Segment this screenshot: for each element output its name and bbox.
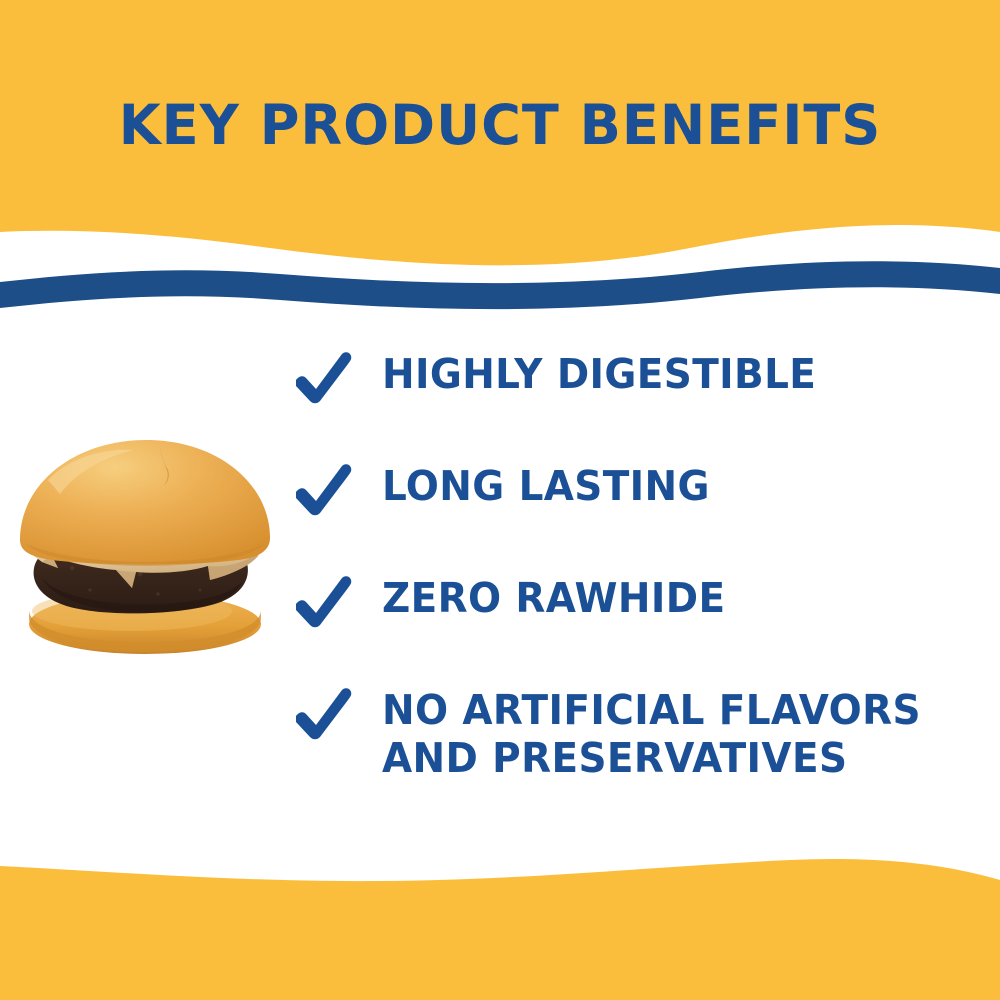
list-item-label: HIGHLY DIGESTIBLE (382, 348, 816, 398)
check-icon (292, 464, 352, 516)
product-image-burger (12, 428, 284, 660)
benefits-infographic: KEY PRODUCT BENEFITS (0, 0, 1000, 1000)
page-title: KEY PRODUCT BENEFITS (8, 96, 993, 154)
check-icon (292, 688, 352, 740)
list-item-label: NO ARTIFICIAL FLAVORS AND PRESERVATIVES (382, 684, 921, 782)
top-bun (20, 440, 270, 566)
list-item: HIGHLY DIGESTIBLE (292, 348, 982, 404)
list-item-label: ZERO RAWHIDE (382, 572, 725, 622)
list-item: NO ARTIFICIAL FLAVORS AND PRESERVATIVES (292, 684, 982, 782)
blue-wave-stripe (0, 261, 1000, 309)
check-icon (292, 352, 352, 404)
bottom-yellow-band (0, 859, 1000, 1000)
list-item: LONG LASTING (292, 460, 982, 516)
list-item: ZERO RAWHIDE (292, 572, 982, 628)
check-icon (292, 576, 352, 628)
list-item-label: LONG LASTING (382, 460, 710, 510)
benefits-list: HIGHLY DIGESTIBLE LONG LASTING ZERO RAWH… (292, 348, 982, 782)
